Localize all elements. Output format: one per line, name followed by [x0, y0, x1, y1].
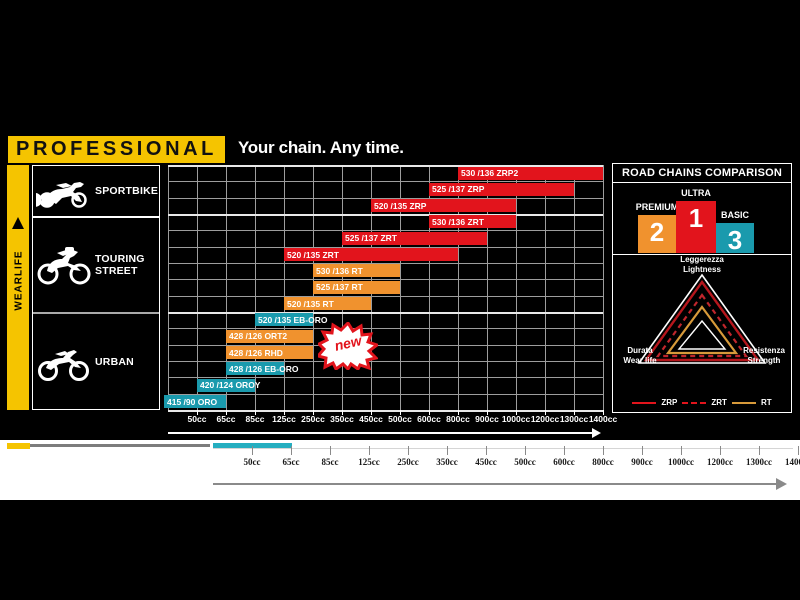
axis-tick	[564, 446, 565, 455]
axis-tick-label: 50cc	[244, 457, 261, 467]
wearlife-axis: WEARLIFE	[7, 165, 29, 410]
grid-line-vertical	[168, 165, 169, 410]
axis-tick-label: 85cc	[322, 457, 339, 467]
podium-rank-premium: 2	[638, 215, 676, 245]
podium-rank-basic: 3	[716, 223, 754, 253]
chart-bar-label: 530 /136 ZRT	[429, 217, 484, 227]
category-label: SPORTBIKE	[95, 185, 158, 197]
wearlife-mini-bar	[7, 443, 30, 449]
grid-line-horizontal	[168, 296, 603, 297]
category-column: SPORTBIKE TOURING STREET	[32, 165, 160, 410]
chain-range-chart: 530 /136 ZRP2525 /137 ZRP520 /135 ZRP530…	[168, 165, 603, 410]
radar-chart: Leggerezza Lightness Resistenza Strength…	[613, 254, 791, 413]
category-row-touring-street[interactable]: TOURING STREET	[33, 218, 159, 314]
grid-line-vertical	[197, 165, 198, 410]
axis-tick-label: 1200cc	[707, 457, 733, 467]
bottom-displacement-axis: 50cc65cc85cc125cc250cc350cc450cc500cc600…	[213, 443, 793, 498]
infographic-root: PROFESSIONAL Your chain. Any time. WEARL…	[0, 0, 800, 600]
radar-axis-wearlife: Durata Wear life	[614, 346, 666, 365]
chart-bar-label: 520 /135 EB-ORO	[255, 315, 327, 325]
axis-arrow-icon	[592, 428, 601, 438]
axis-tick-label: 1400cc	[589, 414, 617, 424]
legend-label-rt: RT	[761, 398, 772, 407]
grid-line-vertical	[516, 165, 517, 410]
axis-tick-label: 500cc	[388, 414, 412, 424]
podium-label-ultra: ULTRA	[651, 188, 741, 198]
radar-axis-wearlife-en: Wear life	[614, 356, 666, 366]
radar-axis-strength-it: Resistenza	[738, 346, 790, 356]
axis-tick-label: 125cc	[358, 457, 380, 467]
chart-bar[interactable]: 525 /137 RT	[313, 281, 400, 294]
axis-tick-label: 600cc	[417, 414, 441, 424]
chart-bar-label: 530 /136 RT	[313, 266, 363, 276]
chart-bar[interactable]: 530 /136 RT	[313, 264, 400, 277]
axis-tick-label: 350cc	[330, 414, 354, 424]
chart-bar-label: 415 /90 ORO	[164, 397, 217, 407]
axis-tick-label: 900cc	[475, 414, 499, 424]
axis-line	[213, 483, 781, 485]
axis-tick	[486, 446, 487, 455]
axis-tick	[603, 446, 604, 455]
chart-bar[interactable]: 520 /135 ZRT	[284, 248, 458, 261]
chart-bar[interactable]: 525 /137 ZRT	[342, 232, 487, 245]
radar-axis-wearlife-it: Durata	[614, 346, 666, 356]
axis-tick	[681, 446, 682, 455]
axis-tick	[330, 446, 331, 455]
axis-tick	[720, 446, 721, 455]
category-row-urban[interactable]: URBAN	[33, 314, 159, 409]
chart-bar[interactable]: 428 /126 EB-ORO	[226, 362, 284, 375]
panel-title: ROAD CHAINS COMPARISON	[613, 164, 791, 183]
grid-line-horizontal	[168, 214, 603, 216]
podium-ultra: ULTRA 1	[676, 201, 716, 253]
chart-bar[interactable]: 415 /90 ORO	[164, 395, 226, 408]
axis-tick-label: 1000cc	[502, 414, 530, 424]
chart-bar-label: 428 /126 EB-ORO	[226, 364, 298, 374]
bottom-light-band: 50cc65cc85cc125cc250cc350cc450cc500cc600…	[0, 440, 800, 500]
grid-line-vertical	[545, 165, 546, 410]
chart-bar-label: 525 /137 ZRT	[342, 233, 397, 243]
podium-chart: PREMIUM 2 ULTRA 1 BASIC 3	[613, 183, 791, 253]
radar-axis-strength: Resistenza Strength	[738, 346, 790, 365]
axis-tick-label: 1400cc	[785, 457, 800, 467]
axis-tick-label: 250cc	[301, 414, 325, 424]
radar-legend: ZRP ZRT RT	[613, 398, 791, 407]
chart-bar-label: 428 /126 ORT2	[226, 331, 287, 341]
category-label-line1: TOURING	[95, 253, 145, 265]
axis-tick-label: 1300cc	[746, 457, 772, 467]
chart-bar-label: 525 /137 ZRP	[429, 184, 484, 194]
legend-swatch-rt	[732, 402, 756, 404]
axis-tick	[291, 446, 292, 455]
category-row-sportbike[interactable]: SPORTBIKE	[33, 166, 159, 218]
axis-tick	[447, 446, 448, 455]
scooter-icon	[33, 314, 95, 409]
axis-tick-label: 1200cc	[531, 414, 559, 424]
chart-bar[interactable]: 420 /124 OROY	[197, 379, 255, 392]
legend-swatch-zrt	[682, 402, 706, 404]
chart-bar[interactable]: 428 /126 RHD	[226, 346, 313, 359]
grid-line-horizontal	[168, 394, 603, 395]
chart-bar[interactable]: 520 /135 EB-ORO	[255, 313, 313, 326]
grid-line-horizontal	[168, 312, 603, 314]
touring-bike-icon	[33, 218, 95, 312]
chart-bar-label: 525 /137 RT	[313, 282, 363, 292]
chart-bar-label: 520 /135 ZRT	[284, 250, 339, 260]
axis-tick-label: 125cc	[272, 414, 296, 424]
axis-tick	[252, 446, 253, 455]
chart-bar-label: 420 /124 OROY	[197, 380, 260, 390]
legend-label-zrt: ZRT	[711, 398, 727, 407]
chart-bar[interactable]: 520 /135 ZRP	[371, 199, 516, 212]
radar-axis-lightness-it: Leggerezza	[657, 255, 747, 265]
category-label-line2: STREET	[95, 265, 145, 277]
displacement-axis: 50cc65cc85cc125cc250cc350cc450cc500cc600…	[168, 410, 608, 436]
axis-tick	[525, 446, 526, 455]
legend-label-zrp: ZRP	[661, 398, 677, 407]
axis-tick-label: 350cc	[436, 457, 458, 467]
axis-tick-label: 600cc	[553, 457, 575, 467]
chart-bar[interactable]: 520 /135 RT	[284, 297, 371, 310]
axis-tick	[798, 446, 799, 455]
axis-tick-label: 250cc	[397, 457, 419, 467]
axis-line	[168, 432, 596, 434]
axis-tick-label: 450cc	[475, 457, 497, 467]
category-label: TOURING STREET	[95, 253, 145, 277]
radar-axis-lightness-en: Lightness	[657, 265, 747, 275]
category-mini-bar	[30, 444, 210, 447]
chart-bar-label: 520 /135 ZRP	[371, 201, 426, 211]
wearlife-label: WEARLIFE	[14, 221, 25, 341]
radar-axis-lightness: Leggerezza Lightness	[657, 255, 747, 274]
axis-tick-label: 50cc	[188, 414, 207, 424]
chart-bar-label: 520 /135 RT	[284, 299, 334, 309]
podium-label-basic: BASIC	[690, 210, 780, 220]
axis-tick-label: 450cc	[359, 414, 383, 424]
grid-line-vertical	[603, 165, 604, 410]
chart-bar-label: 530 /136 ZRP2	[458, 168, 518, 178]
axis-tick-label: 65cc	[217, 414, 236, 424]
sportbike-icon	[33, 166, 95, 216]
tagline: Your chain. Any time.	[238, 138, 404, 158]
axis-tick	[759, 446, 760, 455]
road-chains-comparison-panel: ROAD CHAINS COMPARISON PREMIUM 2 ULTRA 1…	[612, 163, 792, 413]
podium-basic: BASIC 3	[716, 223, 754, 253]
axis-tick-label: 500cc	[514, 457, 536, 467]
new-badge: new	[318, 322, 378, 370]
axis-tick-label: 85cc	[246, 414, 265, 424]
brand-badge: PROFESSIONAL	[8, 136, 225, 163]
chart-bar[interactable]: 530 /136 ZRP2	[458, 167, 603, 180]
chart-bar[interactable]: 525 /137 ZRP	[429, 183, 574, 196]
grid-line-vertical	[574, 165, 575, 410]
axis-tick-label: 1000cc	[668, 457, 694, 467]
axis-tick-label: 65cc	[283, 457, 300, 467]
radar-axis-strength-en: Strength	[738, 356, 790, 366]
axis-arrow-icon	[776, 478, 787, 490]
axis-tick	[408, 446, 409, 455]
axis-tick-label: 1300cc	[560, 414, 588, 424]
axis-tick	[369, 446, 370, 455]
chart-bar[interactable]: 530 /136 ZRT	[429, 215, 516, 228]
axis-tick-label: 800cc	[592, 457, 614, 467]
category-label: URBAN	[95, 356, 134, 368]
axis-tick-label: 900cc	[631, 457, 653, 467]
legend-swatch-zrp	[632, 402, 656, 404]
axis-tick	[642, 446, 643, 455]
axis-tick-label: 800cc	[446, 414, 470, 424]
podium-premium: PREMIUM 2	[638, 215, 676, 253]
chart-bar[interactable]: 428 /126 ORT2	[226, 330, 313, 343]
axis-baseline	[213, 448, 793, 449]
chart-bar-label: 428 /126 RHD	[226, 348, 283, 358]
